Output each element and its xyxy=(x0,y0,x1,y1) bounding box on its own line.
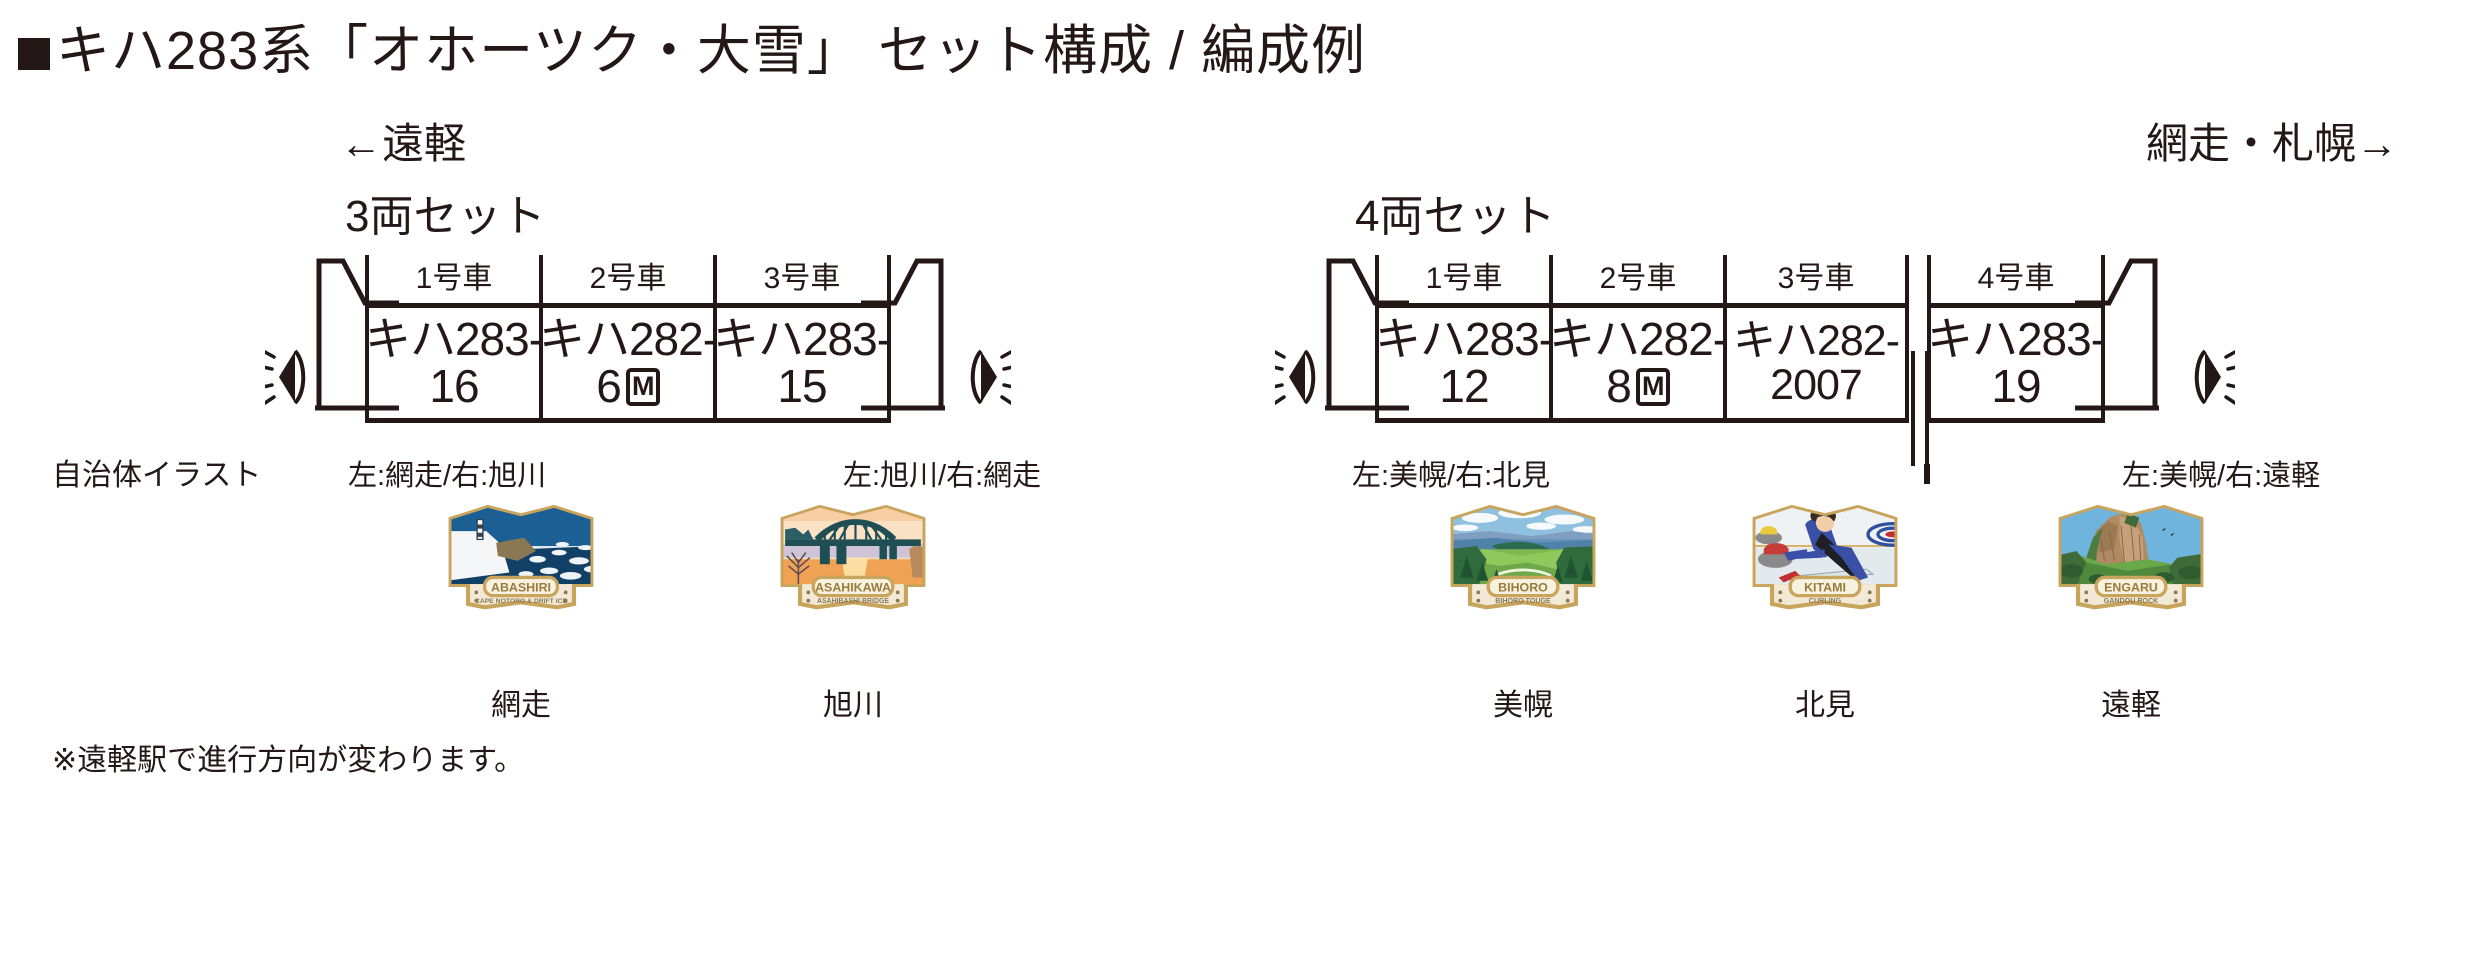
motor-car-badge: M xyxy=(1636,368,1670,406)
illustration-caption: 左:旭川/右:網走 xyxy=(843,452,1041,494)
car-number: 6 xyxy=(596,363,621,410)
car-series: キハ282- xyxy=(1733,319,1899,363)
page-title: キハ283系「オホーツク・大雪」 セット構成 / 編成例 xyxy=(18,6,1366,85)
set-heading-4car: 4両セット xyxy=(1355,180,1555,244)
illustration-caption: 左:網走/右:旭川 xyxy=(348,452,546,494)
illustration-row-label: 自治体イラスト xyxy=(52,450,261,494)
car-number: 15 xyxy=(777,363,826,410)
car-body: キハ283- 12 xyxy=(1379,303,1549,423)
emblem-caption: 網走 xyxy=(438,680,604,724)
engaru-emblem: ENGARU GANDOU ROCK xyxy=(2048,498,2214,618)
car-number: 12 xyxy=(1439,363,1488,410)
emblem-subtitle: ASAHIBASHI BRIDGE xyxy=(817,598,889,605)
car-position-label: 2号車 xyxy=(543,255,713,303)
emblem-caption: 美幌 xyxy=(1440,680,1606,724)
poster-root: キハ283系「オホーツク・大雪」 セット構成 / 編成例 ←遠軽 網走・札幌→ … xyxy=(0,0,2480,964)
direction-label-right: 網走・札幌→ xyxy=(2146,110,2398,171)
page-title-text: キハ283系「オホーツク・大雪」 セット構成 / 編成例 xyxy=(56,21,1366,81)
car-cell: 3号車 キハ282- 2007 xyxy=(1723,255,1909,423)
car-cell: 1号車 キハ283- 16 xyxy=(365,255,543,423)
car-number: 16 xyxy=(429,363,478,410)
car-cell: 1号車 キハ283- 12 xyxy=(1375,255,1553,423)
car-position-label: 1号車 xyxy=(369,255,539,303)
headlight-icon xyxy=(1275,347,1321,407)
bullet-square-icon xyxy=(18,38,50,70)
car-row: 1号車 キハ283- 12 2号車 キハ282- 8 M xyxy=(1325,255,2159,423)
car-body: キハ282- 8 M xyxy=(1553,303,1723,423)
illustration-caption: 左:美幌/右:遠軽 xyxy=(2122,452,2320,494)
car-body: キハ282- 6 M xyxy=(543,303,713,423)
emblem-name: ASAHIKAWA xyxy=(815,581,891,595)
emblem-caption: 遠軽 xyxy=(2048,680,2214,724)
direction-label-left: ←遠軽 xyxy=(340,110,466,171)
emblem-subtitle: GANDOU ROCK xyxy=(2104,597,2159,605)
asahikawa-emblem: ASAHIKAWA ASAHIBASHI BRIDGE xyxy=(770,498,936,618)
car-number: 8 xyxy=(1606,363,1631,410)
car-position-label: 3号車 xyxy=(1727,255,1905,303)
emblem-name: BIHORO xyxy=(1498,581,1548,595)
abashiri-emblem: ABASHIRI CAPE NOTORO & DRIFT ICE xyxy=(438,498,604,618)
illustration-caption: 左:美幌/右:北見 xyxy=(1352,452,1550,494)
car-cell: 2号車 キハ282- 8 M xyxy=(1549,255,1727,423)
motor-car-badge: M xyxy=(626,368,660,406)
car-body: キハ283- 16 xyxy=(369,303,539,423)
kitami-emblem: KITAMI CURLING xyxy=(1742,498,1908,618)
car-row: 1号車 キハ283- 16 2号車 キハ282- 6 M xyxy=(315,255,945,423)
car-position-label: 1号車 xyxy=(1379,255,1549,303)
emblem-name: ABASHIRI xyxy=(491,581,551,595)
car-series: キハ283- xyxy=(365,316,543,363)
car-cell: 2号車 キハ282- 6 M xyxy=(539,255,717,423)
set-heading-3car: 3両セット xyxy=(345,180,545,244)
car-series: キハ282- xyxy=(1549,316,1727,363)
car-body: キハ282- 2007 xyxy=(1727,303,1905,423)
headlight-icon xyxy=(965,347,1011,407)
car-number: 2007 xyxy=(1770,363,1862,407)
headlight-icon xyxy=(2189,347,2235,407)
cab-nose-right xyxy=(2075,255,2161,413)
car-series: キハ283- xyxy=(1375,316,1553,363)
headlight-icon xyxy=(265,347,311,407)
emblem-caption: 旭川 xyxy=(770,680,936,724)
emblem-subtitle: CURLING xyxy=(1809,597,1842,605)
car-number: 19 xyxy=(1991,363,2040,410)
footnote: ※遠軽駅で進行方向が変わります。 xyxy=(52,735,524,779)
emblem-caption: 北見 xyxy=(1742,680,1908,724)
emblem-subtitle: BIHORO TOUGE xyxy=(1495,597,1551,605)
car-position-label: 2号車 xyxy=(1553,255,1723,303)
emblem-name: KITAMI xyxy=(1804,581,1846,595)
cab-nose-right xyxy=(861,255,947,413)
bihoro-emblem: BIHORO BIHORO TOUGE xyxy=(1440,498,1606,618)
emblem-subtitle: CAPE NOTORO & DRIFT ICE xyxy=(475,598,567,605)
car-series: キハ282- xyxy=(539,316,717,363)
emblem-name: ENGARU xyxy=(2104,581,2158,595)
